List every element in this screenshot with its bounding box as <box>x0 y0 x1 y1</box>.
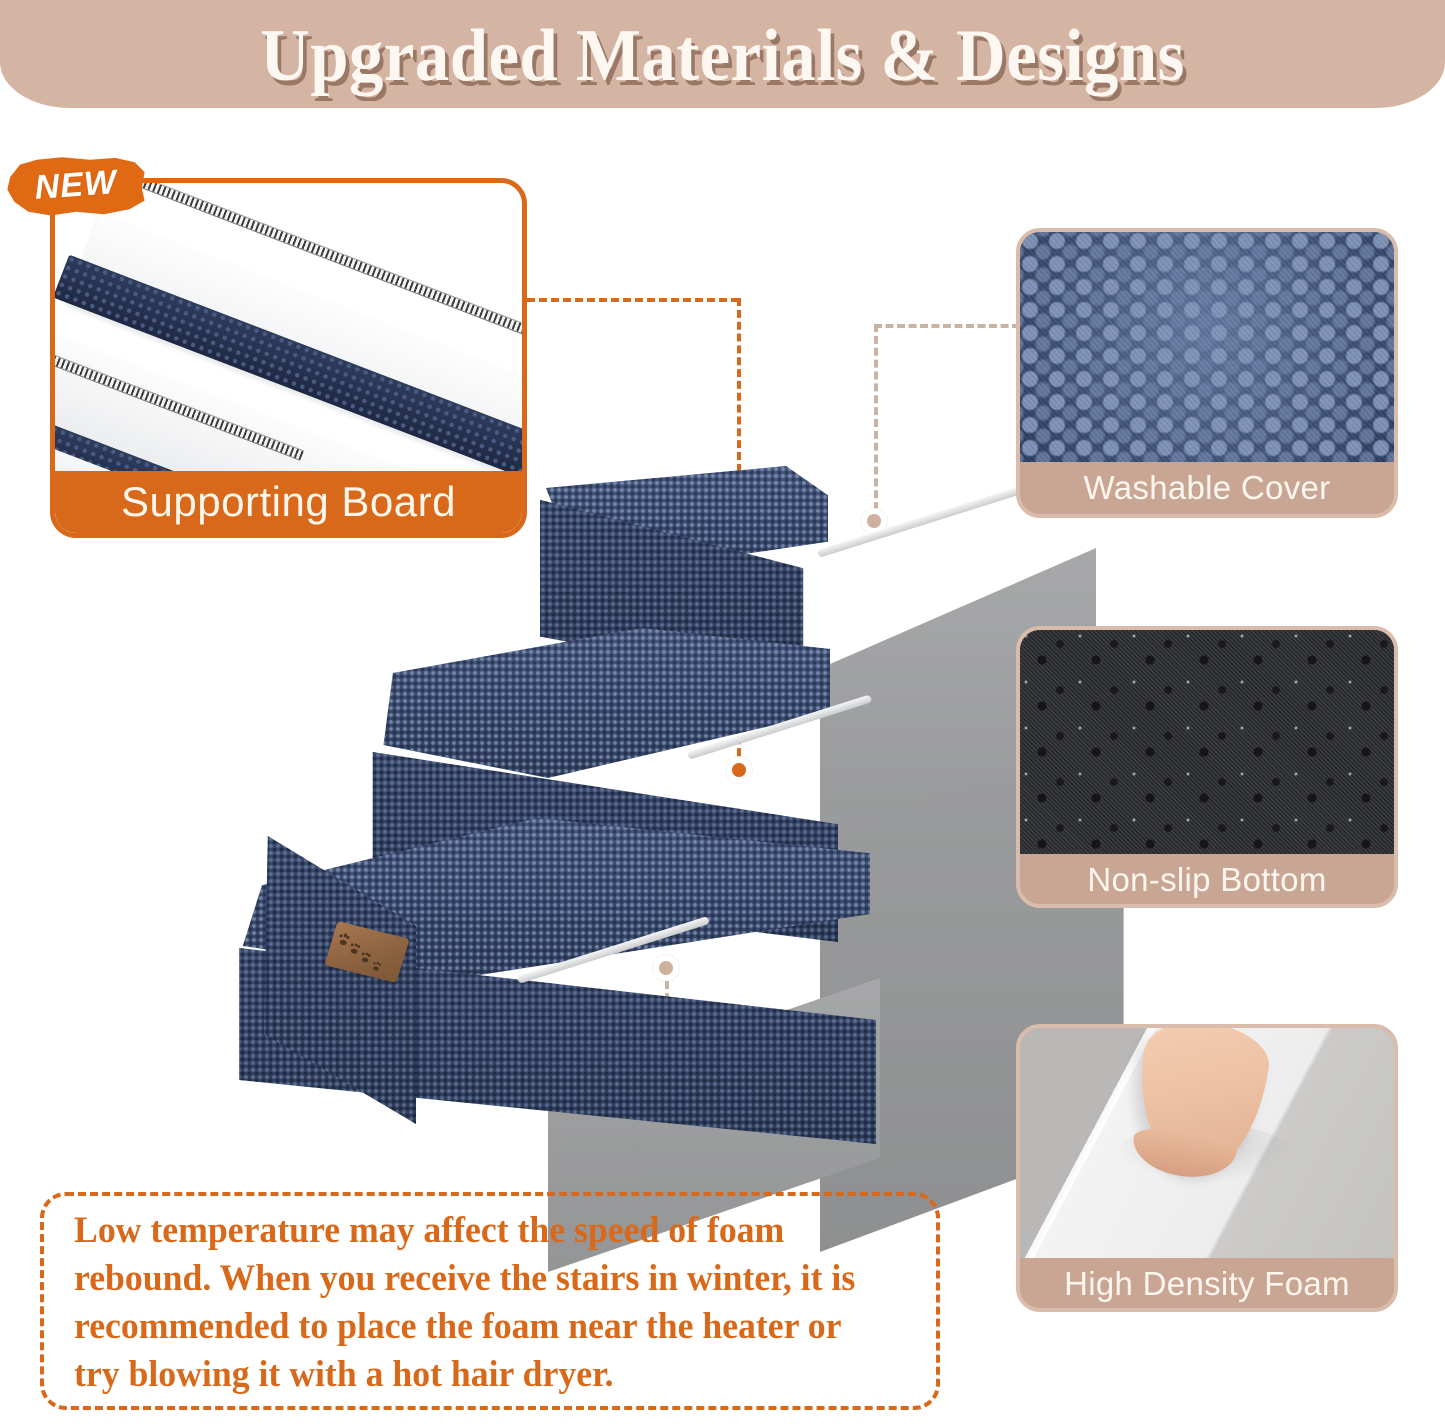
paw-icon <box>337 933 351 946</box>
washable-cover-photo <box>1020 232 1394 462</box>
paw-icon <box>371 961 382 972</box>
feature-label-high-density-foam: High Density Foam <box>1020 1258 1394 1310</box>
pet-stairs-product-image <box>210 452 1030 1152</box>
high-density-foam-photo <box>1020 1028 1394 1258</box>
warning-text: Low temperature may affect the speed of … <box>74 1207 877 1399</box>
feature-label-washable-cover: Washable Cover <box>1020 462 1394 514</box>
warning-callout-box: Low temperature may affect the speed of … <box>40 1192 940 1410</box>
feature-label-nonslip-bottom: Non-slip Bottom <box>1020 854 1394 906</box>
page-title: Upgraded Materials & Designs <box>51 0 1395 108</box>
connector-orange-horizontal <box>527 298 739 302</box>
supporting-board-label: Supporting Board <box>55 471 522 533</box>
infographic-canvas: Upgraded Materials & Designs <box>0 0 1445 1428</box>
feature-card-high-density-foam: High Density Foam <box>1016 1024 1398 1312</box>
feature-card-washable-cover: Washable Cover <box>1016 228 1398 518</box>
paw-icon <box>349 942 362 955</box>
paw-icon <box>360 951 373 963</box>
feature-card-nonslip-bottom: Non-slip Bottom <box>1016 626 1398 908</box>
panel-supporting-board: Supporting Board <box>50 178 527 538</box>
new-badge-label: NEW <box>4 149 148 221</box>
connector-tan-horizontal-washable <box>874 324 1020 328</box>
nonslip-bottom-photo <box>1020 630 1394 854</box>
product-step2-tread <box>360 628 830 778</box>
new-badge: NEW <box>6 156 146 218</box>
